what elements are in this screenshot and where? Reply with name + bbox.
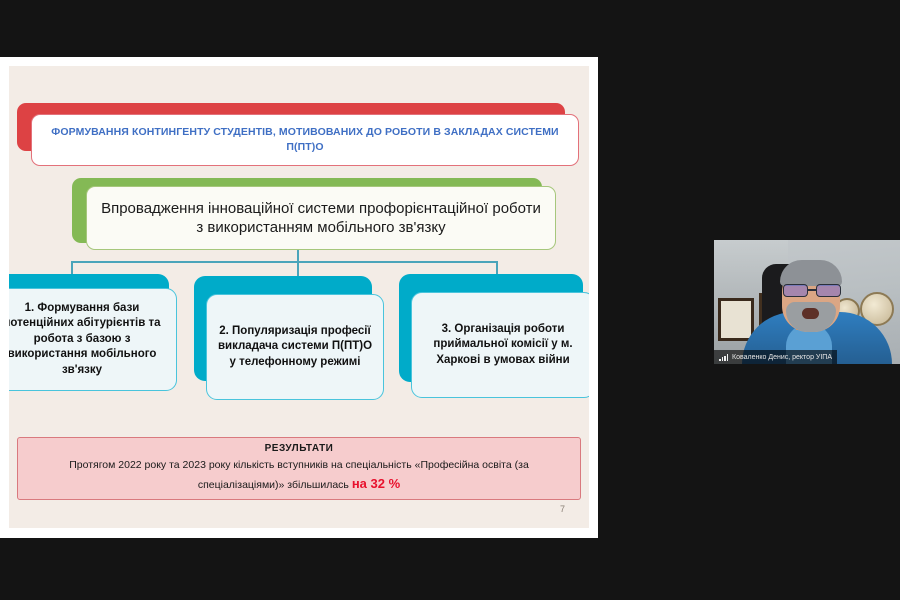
card-1-label: 1. Формування бази потенційних абітурієн… xyxy=(9,301,167,379)
card-2: 2. Популяризація професії викладача сист… xyxy=(206,294,384,400)
signal-bars-icon xyxy=(719,354,728,361)
connector-horizontal-bar xyxy=(71,261,497,263)
results-panel: РЕЗУЛЬТАТИ Протягом 2022 року та 2023 ро… xyxy=(17,437,581,500)
glasses-lens-left xyxy=(783,284,808,297)
results-heading: РЕЗУЛЬТАТИ xyxy=(265,443,334,454)
screen-share-region: ФОРМУВАННЯ КОНТИНГЕНТУ СТУДЕНТІВ, МОТИВО… xyxy=(0,57,598,538)
participant-name: Коваленко Денис, ректор УІПА xyxy=(732,354,832,361)
card-3: 3. Організація роботи приймальної комісі… xyxy=(411,292,589,398)
results-body: Протягом 2022 року та 2023 року кількіст… xyxy=(32,457,566,493)
glasses-bridge xyxy=(808,289,816,291)
slide-title: ФОРМУВАННЯ КОНТИНГЕНТУ СТУДЕНТІВ, МОТИВО… xyxy=(46,125,564,155)
participant-name-badge: Коваленко Денис, ректор УІПА xyxy=(714,350,837,364)
glasses-lens-right xyxy=(816,284,841,297)
presentation-slide: ФОРМУВАННЯ КОНТИНГЕНТУ СТУДЕНТІВ, МОТИВО… xyxy=(9,66,589,528)
participant-hair xyxy=(780,260,842,286)
wall-certificate-frame-1 xyxy=(718,298,754,341)
card-2-label: 2. Популяризація професії викладача сист… xyxy=(216,324,374,371)
slide-subtitle-box: Впровадження інноваційної системи профор… xyxy=(86,186,556,250)
results-highlight: на 32 % xyxy=(352,476,400,491)
results-body-text: Протягом 2022 року та 2023 року кількіст… xyxy=(69,459,529,490)
card-3-label: 3. Організація роботи приймальної комісі… xyxy=(421,322,585,369)
slide-subtitle: Впровадження інноваційної системи профор… xyxy=(97,199,545,238)
participant-glasses xyxy=(782,284,842,297)
participant-video-tile[interactable]: Коваленко Денис, ректор УІПА xyxy=(714,240,900,364)
card-1: 1. Формування бази потенційних абітурієн… xyxy=(9,288,177,391)
participant-mouth xyxy=(802,308,819,319)
slide-page-number: 7 xyxy=(560,504,565,514)
slide-title-box: ФОРМУВАННЯ КОНТИНГЕНТУ СТУДЕНТІВ, МОТИВО… xyxy=(31,114,579,166)
